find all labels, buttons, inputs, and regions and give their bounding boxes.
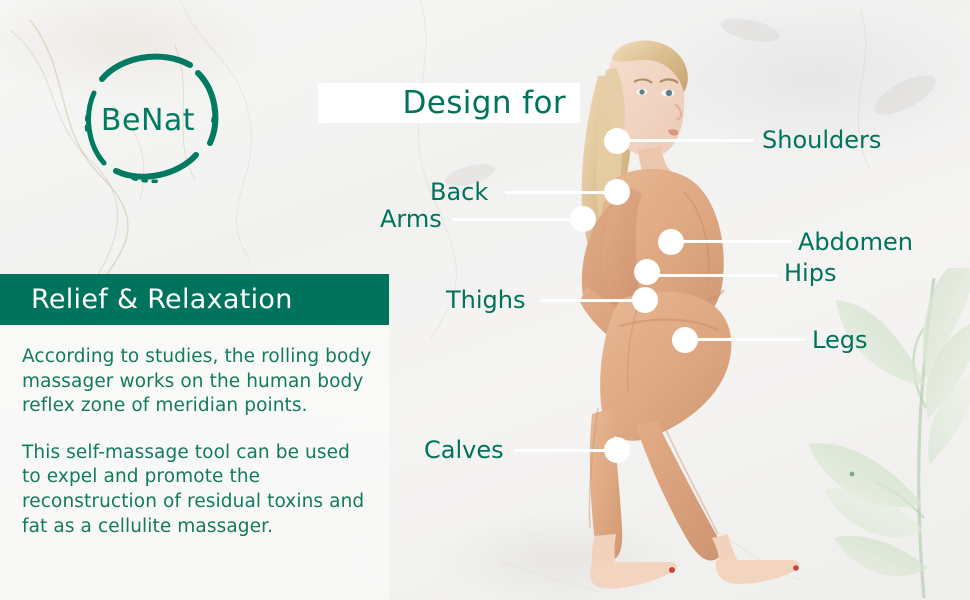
- callout-dot: [604, 179, 630, 205]
- callout-label: Back: [430, 180, 488, 204]
- brand-name: BeNat: [58, 33, 238, 208]
- callout-dot: [632, 287, 658, 313]
- callout-label: Arms: [380, 207, 442, 231]
- callout-label: Calves: [424, 438, 504, 462]
- callout-line: [452, 218, 580, 221]
- promo-banner: BeNat Design for Relief & Relaxation Acc…: [0, 0, 970, 600]
- design-for-banner: Design for: [318, 83, 580, 123]
- callout-line: [626, 139, 754, 142]
- callout-line: [694, 338, 806, 341]
- design-for-label: Design for: [402, 88, 566, 119]
- callout-dot: [570, 206, 596, 232]
- brand-logo: BeNat: [58, 33, 238, 208]
- callout-label: Hips: [784, 261, 836, 285]
- relief-relaxation-banner: Relief & Relaxation: [0, 274, 389, 325]
- callout-dot: [634, 259, 660, 285]
- callout-line: [656, 274, 778, 277]
- callout-label: Shoulders: [762, 128, 881, 152]
- callout-line: [514, 449, 612, 452]
- body-copy: According to studies, the rolling body m…: [22, 345, 372, 539]
- relief-relaxation-label: Relief & Relaxation: [31, 286, 293, 313]
- callout-label: Legs: [812, 328, 867, 352]
- callout-line: [680, 240, 792, 243]
- callout-line: [540, 299, 640, 302]
- callout-line: [505, 191, 612, 194]
- copy-paragraph-2: This self-massage tool can be used to ex…: [22, 441, 372, 539]
- callout-label: Thighs: [446, 288, 526, 312]
- copy-paragraph-1: According to studies, the rolling body m…: [22, 345, 372, 419]
- callout-label: Abdomen: [798, 230, 913, 254]
- callout-dot: [604, 437, 630, 463]
